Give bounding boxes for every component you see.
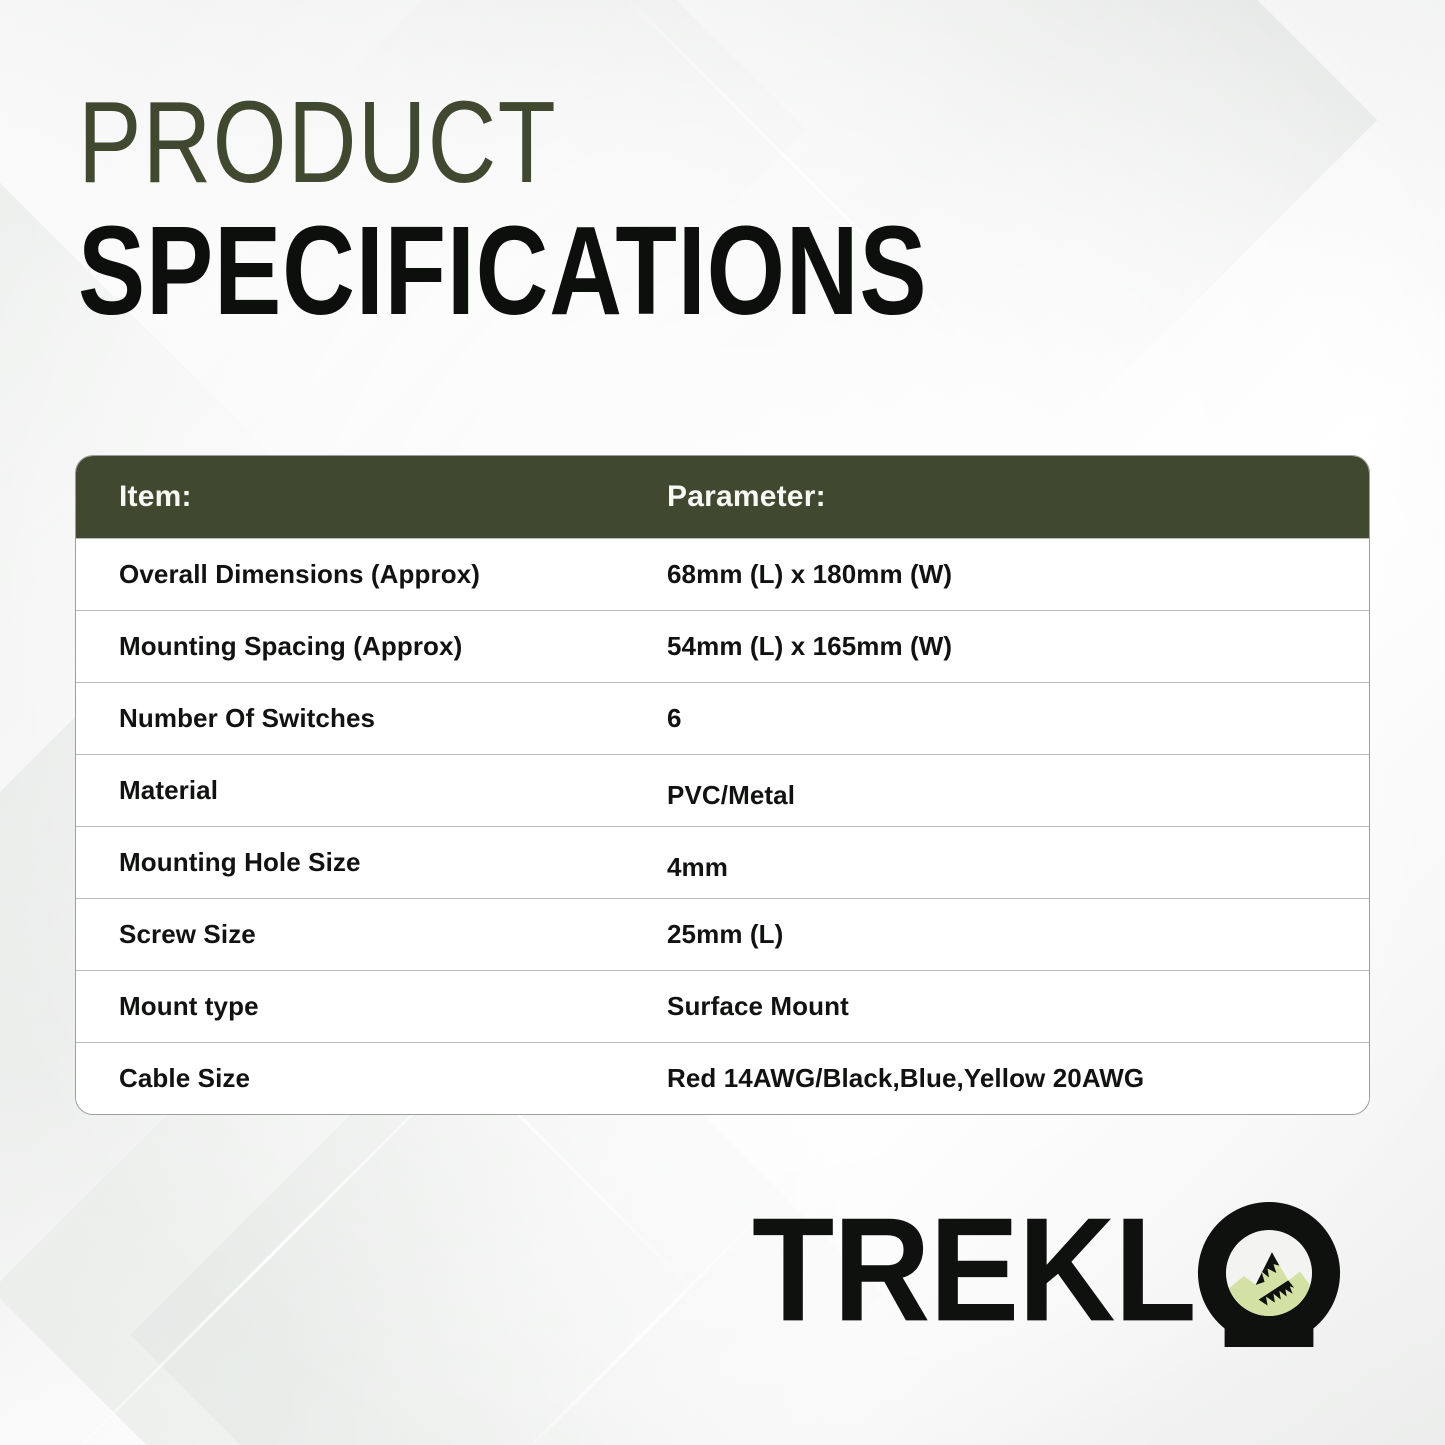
table-row: Cable Size Red 14AWG/Black,Blue,Yellow 2…	[76, 1042, 1369, 1114]
page-title-line-1: PRODUCT	[78, 86, 949, 200]
table-cell-item: Overall Dimensions (Approx)	[76, 559, 631, 590]
table-header-row: Item: Parameter:	[76, 456, 1369, 538]
table-row: Mounting Hole Size 4mm	[76, 826, 1369, 898]
table-cell-item: Mounting Spacing (Approx)	[76, 631, 631, 662]
table-row: Mount type Surface Mount	[76, 970, 1369, 1042]
table-cell-parameter: Red 14AWG/Black,Blue,Yellow 20AWG	[631, 1063, 1369, 1094]
table-cell-parameter: PVC/Metal	[631, 780, 1369, 811]
table-row: Overall Dimensions (Approx) 68mm (L) x 1…	[76, 538, 1369, 610]
table-cell-parameter: 68mm (L) x 180mm (W)	[631, 559, 1369, 590]
table-row: Mounting Spacing (Approx) 54mm (L) x 165…	[76, 610, 1369, 682]
table-cell-parameter: Surface Mount	[631, 991, 1369, 1022]
table-row: Number Of Switches 6	[76, 682, 1369, 754]
table-cell-parameter: 4mm	[631, 852, 1369, 883]
table-header-item: Item:	[76, 480, 631, 514]
table-cell-item: Material	[76, 775, 631, 806]
product-specifications-page: PRODUCT SPECIFICATIONS Item: Parameter: …	[0, 0, 1445, 1445]
table-cell-item: Mounting Hole Size	[76, 847, 631, 878]
table-header-parameter: Parameter:	[631, 480, 1369, 514]
table-cell-item: Cable Size	[76, 1063, 631, 1094]
table-cell-parameter: 54mm (L) x 165mm (W)	[631, 631, 1369, 662]
brand-wordmark: TREKL	[752, 1196, 1196, 1344]
table-cell-item: Mount type	[76, 991, 631, 1022]
brand-logo: TREKL	[752, 1196, 1343, 1344]
specifications-table: Item: Parameter: Overall Dimensions (App…	[75, 455, 1370, 1115]
page-title-line-2: SPECIFICATIONS	[78, 208, 927, 334]
table-cell-parameter: 6	[631, 703, 1369, 734]
table-cell-item: Number Of Switches	[76, 703, 631, 734]
table-cell-parameter: 25mm (L)	[631, 919, 1369, 950]
table-row: Material PVC/Metal	[76, 754, 1369, 826]
table-row: Screw Size 25mm (L)	[76, 898, 1369, 970]
page-title: PRODUCT SPECIFICATIONS	[78, 86, 1140, 334]
mountain-circle-icon	[1195, 1199, 1343, 1347]
table-cell-item: Screw Size	[76, 919, 631, 950]
